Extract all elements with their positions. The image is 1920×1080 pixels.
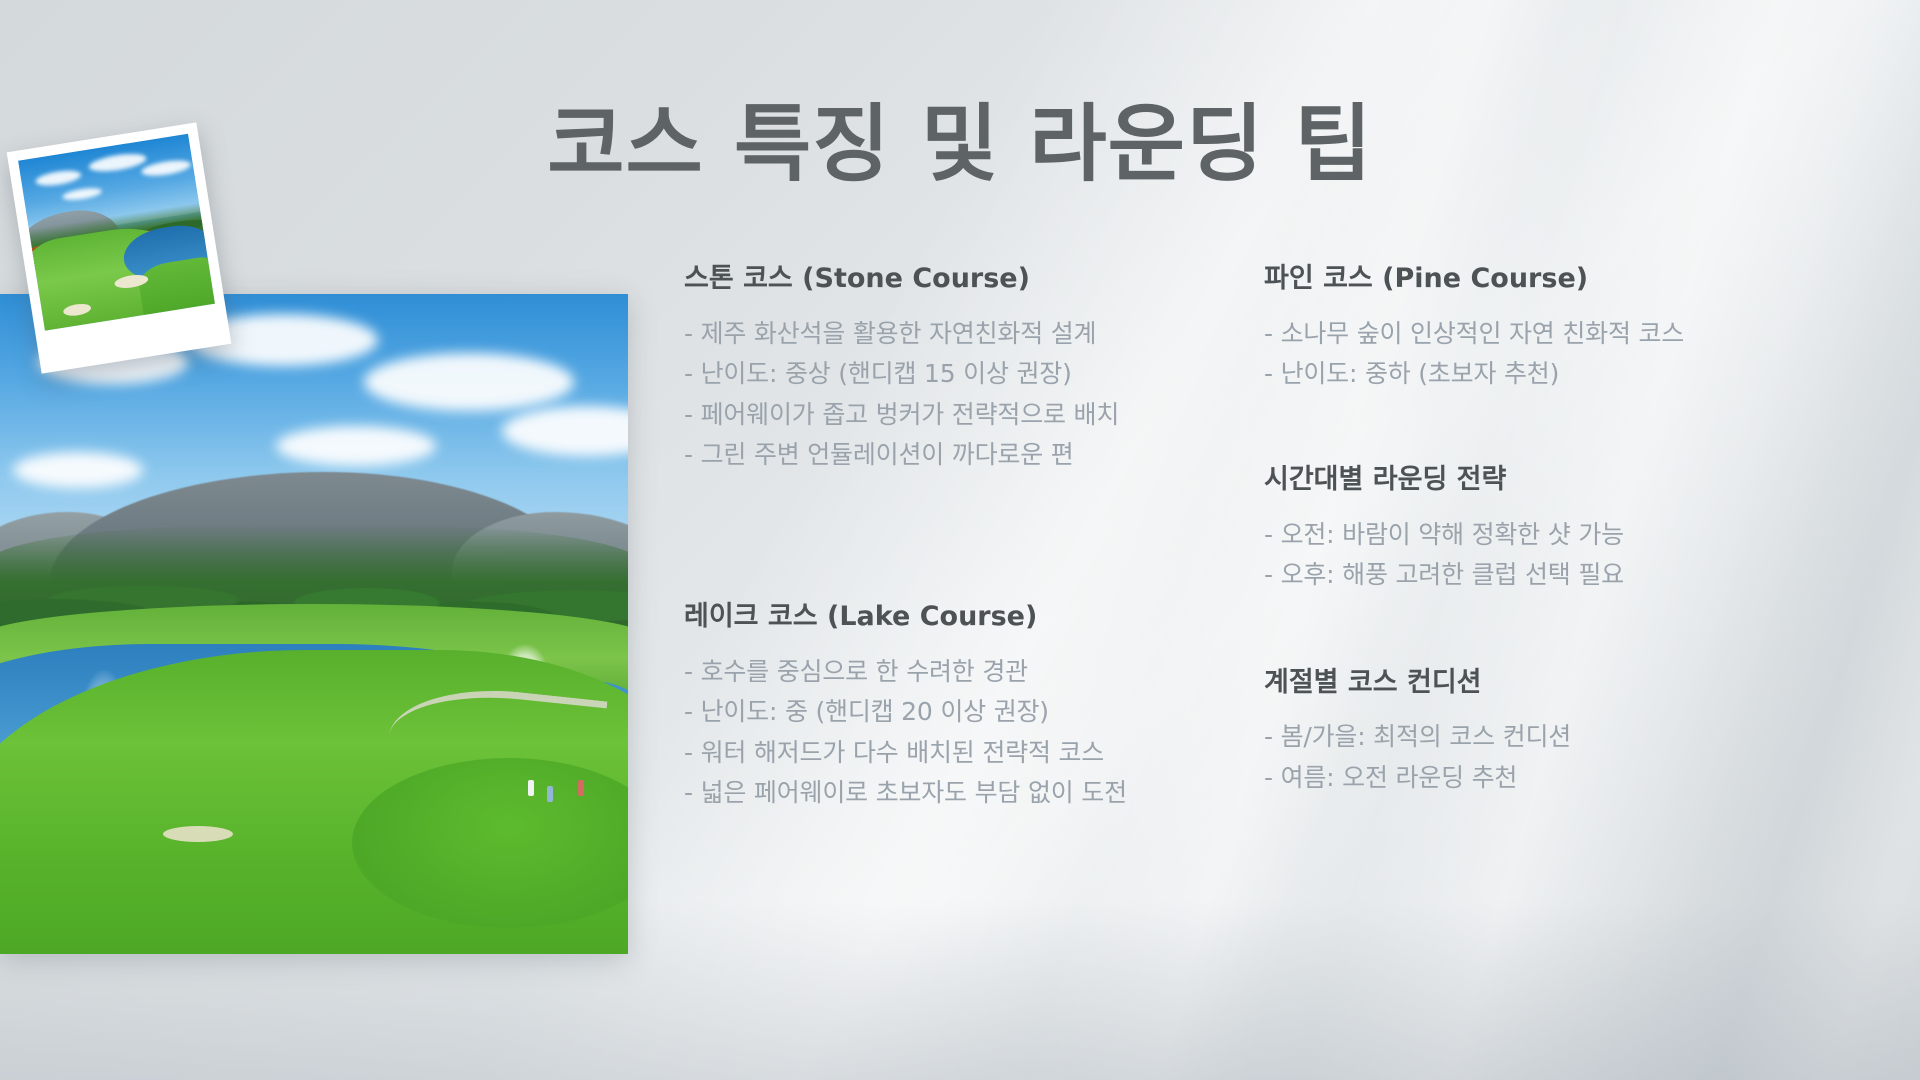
content-columns: 스톤 코스 (Stone Course) - 제주 화산석을 활용한 자연친화적… bbox=[684, 262, 1874, 814]
bullet-list-lake-course: - 호수를 중심으로 한 수려한 경관 - 난이도: 중 (핸디캡 20 이상 … bbox=[684, 652, 1238, 814]
section-heading-pine-course: 파인 코스 (Pine Course) bbox=[1264, 262, 1824, 296]
polaroid-photo-frame bbox=[7, 122, 232, 373]
section-season-condition: 계절별 코스 컨디션 - 봄/가을: 최적의 코스 컨디션 - 여름: 오전 라… bbox=[1264, 666, 1824, 799]
golfer-figure bbox=[578, 780, 584, 796]
list-item: - 그린 주변 언듈레이션이 까다로운 편 bbox=[684, 435, 1238, 476]
column-spacer bbox=[684, 476, 1238, 600]
list-item: - 페어웨이가 좁고 벙커가 전략적으로 배치 bbox=[684, 395, 1238, 436]
section-lake-course: 레이크 코스 (Lake Course) - 호수를 중심으로 한 수려한 경관… bbox=[684, 600, 1238, 814]
section-time-strategy: 시간대별 라운딩 전략 - 오전: 바람이 약해 정확한 샷 가능 - 오후: … bbox=[1264, 463, 1824, 596]
bullet-list-pine-course: - 소나무 숲이 인상적인 자연 친화적 코스 - 난이도: 중하 (초보자 추… bbox=[1264, 314, 1824, 395]
list-item: - 난이도: 중상 (핸디캡 15 이상 권장) bbox=[684, 354, 1238, 395]
bullet-list-time-strategy: - 오전: 바람이 약해 정확한 샷 가능 - 오후: 해풍 고려한 클럽 선택… bbox=[1264, 515, 1824, 596]
list-item: - 난이도: 중하 (초보자 추천) bbox=[1264, 354, 1824, 395]
bunker-shape bbox=[163, 826, 233, 842]
list-item: - 워터 해저드가 다수 배치된 전략적 코스 bbox=[684, 733, 1238, 774]
list-item: - 난이도: 중 (핸디캡 20 이상 권장) bbox=[684, 692, 1238, 733]
column-spacer bbox=[1264, 395, 1824, 463]
right-column: 파인 코스 (Pine Course) - 소나무 숲이 인상적인 자연 친화적… bbox=[1264, 262, 1824, 814]
golfer-figure bbox=[528, 780, 534, 796]
bullet-list-stone-course: - 제주 화산석을 활용한 자연친화적 설계 - 난이도: 중상 (핸디캡 15… bbox=[684, 314, 1238, 476]
section-heading-time-strategy: 시간대별 라운딩 전략 bbox=[1264, 463, 1824, 497]
list-item: - 오후: 해풍 고려한 클럽 선택 필요 bbox=[1264, 555, 1824, 596]
list-item: - 여름: 오전 라운딩 추천 bbox=[1264, 758, 1824, 799]
golfer-figure bbox=[547, 786, 553, 802]
bullet-list-season-condition: - 봄/가을: 최적의 코스 컨디션 - 여름: 오전 라운딩 추천 bbox=[1264, 717, 1824, 798]
polaroid-photo-image bbox=[18, 134, 215, 331]
hero-photo-golf-course bbox=[0, 294, 628, 954]
section-heading-stone-course: 스톤 코스 (Stone Course) bbox=[684, 262, 1238, 296]
list-item: - 넓은 페어웨이로 초보자도 부담 없이 도전 bbox=[684, 773, 1238, 814]
section-heading-lake-course: 레이크 코스 (Lake Course) bbox=[684, 600, 1238, 634]
list-item: - 오전: 바람이 약해 정확한 샷 가능 bbox=[1264, 515, 1824, 556]
left-column: 스톤 코스 (Stone Course) - 제주 화산석을 활용한 자연친화적… bbox=[684, 262, 1264, 814]
cloud-shape bbox=[276, 426, 436, 466]
list-item: - 호수를 중심으로 한 수려한 경관 bbox=[684, 652, 1238, 693]
section-pine-course: 파인 코스 (Pine Course) - 소나무 숲이 인상적인 자연 친화적… bbox=[1264, 262, 1824, 395]
column-spacer bbox=[1264, 596, 1824, 666]
page-title: 코스 특징 및 라운딩 팁 bbox=[0, 94, 1920, 195]
section-heading-season-condition: 계절별 코스 컨디션 bbox=[1264, 666, 1824, 700]
list-item: - 제주 화산석을 활용한 자연친화적 설계 bbox=[684, 314, 1238, 355]
list-item: - 봄/가을: 최적의 코스 컨디션 bbox=[1264, 717, 1824, 758]
section-stone-course: 스톤 코스 (Stone Course) - 제주 화산석을 활용한 자연친화적… bbox=[684, 262, 1238, 476]
list-item: - 소나무 숲이 인상적인 자연 친화적 코스 bbox=[1264, 314, 1824, 355]
slide-canvas: 코스 특징 및 라운딩 팁 bbox=[0, 0, 1920, 1080]
